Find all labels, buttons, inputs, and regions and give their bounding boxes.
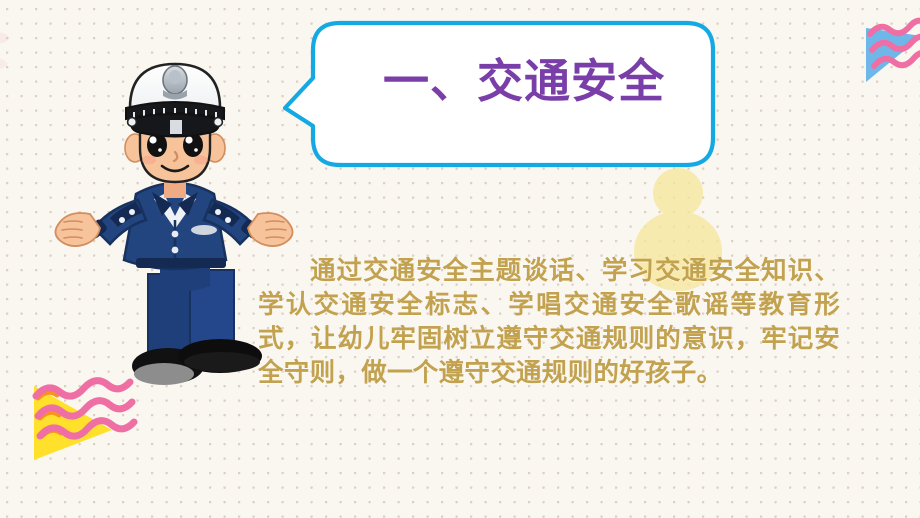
top-right-decoration <box>830 0 920 88</box>
left-edge-decoration <box>0 28 16 94</box>
page-title: 一、交通安全 <box>383 50 689 112</box>
body-paragraph: 通过交通安全主题谈话、学习交通安全知识、学认交通安全标志、学唱交通安全歌谣等教育… <box>258 254 840 390</box>
slide-canvas: 一、交通安全 通过交通安全主题谈话、学习交通安全知识、学认交通安全标志、学唱交通… <box>0 0 920 518</box>
